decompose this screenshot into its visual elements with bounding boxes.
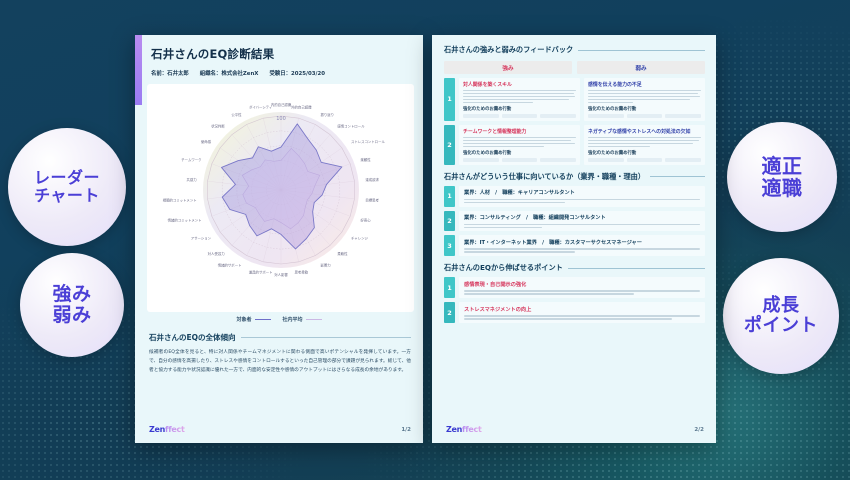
overview-section: 石井さんのEQの全体傾向 候補者のEQ全体を見ると、特に対人関係やチームマネジメ… [149, 332, 411, 375]
svg-text:使命感: 使命感 [201, 139, 212, 144]
meta-name: 名前：石井太郎 [151, 69, 189, 77]
legend-subject-label: 対象者 [236, 317, 251, 323]
bubble-strength-weakness-line1: 強み [52, 284, 91, 305]
svg-text:情緒的コミットメント: 情緒的コミットメント [168, 217, 202, 222]
page1-number: 1/2 [401, 427, 411, 433]
feedback-section: 石井さんの強みと弱みのフィードバック 強み 弱み 1 対人関係を築くスキル [444, 45, 705, 165]
job-fit-cell[interactable]: 業界：人材 / 職種：キャリアコンサルタント [459, 186, 705, 207]
svg-text:達成欲求: 達成欲求 [365, 177, 379, 182]
meta-exam-date: 受験日：2025/03/20 [269, 69, 325, 77]
page1-accent-bar [135, 35, 142, 105]
feedback-weakness-cell[interactable]: ネガティブな感情やストレスへの対処法の欠如 強化のためのお薦め行動 [584, 125, 705, 165]
brand-logo-text: Zen [149, 425, 165, 434]
column-header-strength: 強み [444, 61, 572, 74]
growth-text [464, 290, 700, 294]
overview-heading-row: 石井さんのEQの全体傾向 [149, 332, 411, 343]
overview-rule [241, 337, 412, 338]
brand-logo-text: Zen [446, 425, 462, 434]
bubble-aptitude-line2: 適職 [762, 177, 803, 199]
feedback-weakness-title: ネガティブな感情やストレスへの対処法の欠如 [588, 128, 701, 135]
legend-subject-swatch [255, 319, 271, 321]
svg-text:状況判断: 状況判断 [211, 124, 225, 129]
growth-cell[interactable]: ストレスマネジメントの向上 [459, 302, 705, 323]
job-fit-row: 2 業界：コンサルティング / 職種：組織開発コンサルタント [444, 211, 705, 232]
growth-heading-row: 石井さんのEQから伸ばせるポイント [444, 263, 705, 273]
bubble-growth-point-line2: ポイント [744, 316, 818, 336]
feedback-heading-row: 石井さんの強みと弱みのフィードバック [444, 45, 705, 55]
feedback-column-headers: 強み 弱み [444, 61, 705, 74]
bubble-aptitude[interactable]: 適正 適職 [727, 122, 837, 232]
growth-row-number: 2 [444, 302, 455, 323]
svg-text:規範的コミットメント: 規範的コミットメント [163, 197, 197, 202]
feedback-strength-tags [463, 158, 576, 162]
job-fit-text [464, 199, 700, 203]
feedback-weakness-cell[interactable]: 感情を伝える能力の不足 強化のためのお薦め行動 [584, 78, 705, 121]
job-fit-cell[interactable]: 業界：IT・インターネット業界 / 職種：カスタマーサクセスマネージャー [459, 235, 705, 256]
feedback-strength-cell[interactable]: チームワークと情報整理能力 強化のためのお薦め行動 [459, 125, 580, 165]
legend-subject: 対象者 [236, 316, 270, 323]
page2-footer: Zenffect 2/2 [446, 425, 704, 434]
svg-text:外的自己認識: 外的自己認識 [291, 105, 312, 110]
page-title: 石井さんのEQ診断結果 [151, 46, 411, 62]
feedback-weakness-sub: 強化のためのお薦め行動 [588, 150, 701, 156]
feedback-row-number: 1 [444, 78, 455, 121]
job-fit-title: 業界：人材 / 職種：キャリアコンサルタント [464, 189, 700, 196]
feedback-strength-title: チームワークと情報整理能力 [463, 128, 576, 135]
svg-text:公平性: 公平性 [231, 112, 242, 117]
legend-average: 社内平均 [283, 316, 322, 323]
bubble-radar-chart[interactable]: レーダー チャート [8, 128, 126, 246]
bubble-radar-chart-line2: チャート [34, 187, 100, 205]
bubble-growth-point-line1: 成長 [763, 296, 800, 316]
report-page-2[interactable]: 石井さんの強みと弱みのフィードバック 強み 弱み 1 対人関係を築くスキル [432, 35, 716, 443]
growth-text [464, 315, 700, 319]
radar-chart-svg: 100内的自己認識外的自己認識振り返り感情コントロールストレスコントロール楽観性… [147, 84, 414, 312]
growth-title: ストレスマネジメントの向上 [464, 306, 700, 313]
feedback-strength-cell[interactable]: 対人関係を築くスキル 強化のためのお薦め行動 [459, 78, 580, 121]
growth-title: 感情表現・自己開示の強化 [464, 281, 700, 288]
meta-organization: 組織名：株式会社ZenX [200, 69, 259, 77]
svg-text:道具的サポート: 道具的サポート [249, 270, 273, 275]
svg-text:共感力: 共感力 [186, 177, 197, 182]
page1-footer: Zenffect 1/2 [149, 425, 411, 434]
screenshot-root: レーダー チャート 強み 弱み 適正 適職 成長 ポイント 石井さんのEQ診断結… [0, 0, 850, 480]
overview-body: 候補者のEQ全体を見ると、特に対人関係やチームマネジメントに関わる側面で高いポテ… [149, 348, 411, 375]
feedback-weakness-text [588, 90, 701, 103]
svg-text:目標思考: 目標思考 [365, 197, 379, 202]
growth-row: 1 感情表現・自己開示の強化 [444, 277, 705, 298]
overview-heading: 石井さんのEQの全体傾向 [149, 332, 236, 343]
svg-text:アサーション: アサーション [191, 235, 212, 240]
svg-text:100: 100 [276, 116, 286, 122]
bubble-radar-chart-line1: レーダー [34, 169, 100, 187]
report-page-1[interactable]: 石井さんのEQ診断結果 名前：石井太郎 組織名：株式会社ZenX 受験日：202… [135, 35, 423, 443]
page2-body: 石井さんの強みと弱みのフィードバック 強み 弱み 1 対人関係を築くスキル [432, 35, 716, 323]
job-fit-title: 業界：IT・インターネット業界 / 職種：カスタマーサクセスマネージャー [464, 239, 700, 246]
svg-text:ストレスコントロール: ストレスコントロール [351, 139, 386, 144]
svg-text:好奇心: 好奇心 [360, 217, 371, 222]
job-fit-cell[interactable]: 業界：コンサルティング / 職種：組織開発コンサルタント [459, 211, 705, 232]
svg-text:チームワーク: チームワーク [181, 157, 201, 162]
job-fit-title: 業界：コンサルティング / 職種：組織開発コンサルタント [464, 214, 700, 221]
feedback-weakness-sub: 強化のためのお薦め行動 [588, 106, 701, 112]
job-fit-row: 3 業界：IT・インターネット業界 / 職種：カスタマーサクセスマネージャー [444, 235, 705, 256]
feedback-strength-text [463, 137, 576, 147]
job-fit-text [464, 224, 700, 228]
brand-logo[interactable]: Zenffect [446, 425, 482, 434]
bubble-strength-weakness[interactable]: 強み 弱み [20, 253, 124, 357]
svg-text:楽観性: 楽観性 [360, 157, 371, 162]
dot-map-pattern [0, 0, 850, 480]
brand-logo[interactable]: Zenffect [149, 425, 185, 434]
job-fit-rule [650, 176, 705, 177]
feedback-strength-sub: 強化のためのお薦め行動 [463, 150, 576, 156]
svg-text:ダイバーシティ: ダイバーシティ [249, 105, 272, 110]
brand-logo-accent: ffect [165, 425, 184, 434]
svg-text:チャレンジ: チャレンジ [351, 235, 369, 240]
feedback-strength-text [463, 90, 576, 103]
feedback-row: 2 チームワークと情報整理能力 強化のためのお薦め行動 ネガティブな感情やストレ… [444, 125, 705, 165]
job-fit-row-number: 1 [444, 186, 455, 207]
bubble-aptitude-line1: 適正 [762, 155, 803, 177]
page1-meta: 名前：石井太郎 組織名：株式会社ZenX 受験日：2025/03/20 [151, 69, 411, 77]
svg-text:影響力: 影響力 [321, 262, 332, 267]
feedback-strength-tags [463, 114, 576, 118]
job-fit-heading: 石井さんがどういう仕事に向いているか（業界・職種・理由） [444, 172, 645, 182]
svg-text:感情コントロール: 感情コントロール [337, 124, 365, 129]
page1-header: 石井さんのEQ診断結果 名前：石井太郎 組織名：株式会社ZenX 受験日：202… [135, 35, 423, 77]
page2-number: 2/2 [694, 427, 704, 433]
svg-text:対人受容力: 対人受容力 [208, 251, 226, 256]
growth-rule [568, 268, 705, 269]
job-fit-row-number: 3 [444, 235, 455, 256]
bubble-strength-weakness-line2: 弱み [52, 305, 91, 326]
feedback-row: 1 対人関係を築くスキル 強化のためのお薦め行動 感情を伝える能力の不足 [444, 78, 705, 121]
svg-text:対人影響: 対人影響 [274, 272, 288, 277]
job-fit-heading-row: 石井さんがどういう仕事に向いているか（業界・職種・理由） [444, 172, 705, 182]
job-fit-section: 石井さんがどういう仕事に向いているか（業界・職種・理由） 1 業界：人材 / 職… [444, 172, 705, 257]
svg-text:柔軟性: 柔軟性 [337, 251, 348, 256]
growth-cell[interactable]: 感情表現・自己開示の強化 [459, 277, 705, 298]
growth-heading: 石井さんのEQから伸ばせるポイント [444, 263, 563, 273]
feedback-weakness-text [588, 137, 701, 147]
feedback-row-number: 2 [444, 125, 455, 165]
radar-chart-card[interactable]: 100内的自己認識外的自己認識振り返り感情コントロールストレスコントロール楽観性… [147, 84, 414, 312]
growth-row-number: 1 [444, 277, 455, 298]
brand-logo-accent: ffect [462, 425, 481, 434]
growth-section: 石井さんのEQから伸ばせるポイント 1 感情表現・自己開示の強化 2 [444, 263, 705, 323]
growth-row: 2 ストレスマネジメントの向上 [444, 302, 705, 323]
job-fit-row: 1 業界：人材 / 職種：キャリアコンサルタント [444, 186, 705, 207]
feedback-heading: 石井さんの強みと弱みのフィードバック [444, 45, 573, 55]
column-header-weakness: 弱み [577, 61, 705, 74]
feedback-rule [578, 50, 705, 51]
feedback-strength-title: 対人関係を築くスキル [463, 81, 576, 88]
feedback-strength-sub: 強化のためのお薦め行動 [463, 106, 576, 112]
job-fit-text [464, 248, 700, 252]
svg-text:振り返り: 振り返り [321, 112, 335, 117]
feedback-weakness-tags [588, 158, 701, 162]
bubble-growth-point[interactable]: 成長 ポイント [723, 258, 839, 374]
chart-legend: 対象者 社内平均 [135, 316, 423, 323]
legend-average-label: 社内平均 [283, 317, 303, 323]
feedback-weakness-tags [588, 114, 701, 118]
svg-text:情緒的サポート: 情緒的サポート [218, 262, 242, 267]
job-fit-row-number: 2 [444, 211, 455, 232]
svg-text:内的自己認識: 内的自己認識 [271, 102, 292, 107]
svg-text:思考柔軟: 思考柔軟 [295, 270, 309, 275]
legend-average-swatch [306, 319, 322, 321]
feedback-weakness-title: 感情を伝える能力の不足 [588, 81, 701, 88]
